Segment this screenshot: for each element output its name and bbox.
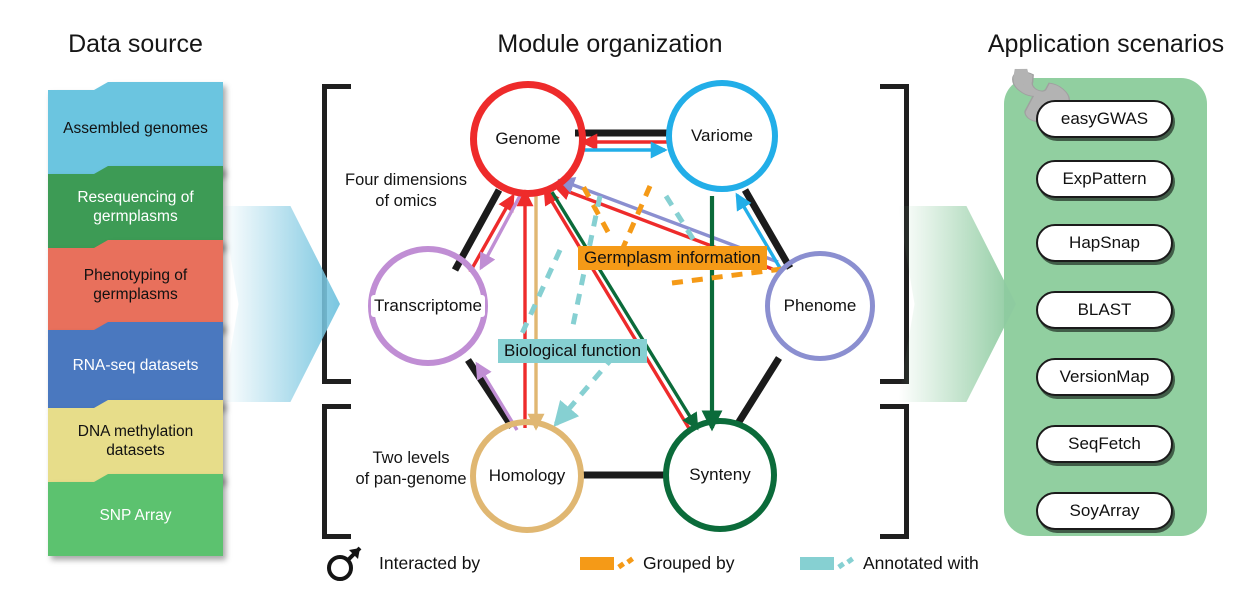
data-source-item: Resequencing of germplasms <box>48 166 223 248</box>
app-button-label: SeqFetch <box>1068 434 1141 454</box>
data-source-item: SNP Array <box>48 474 223 556</box>
node-genome[interactable]: Genome <box>470 81 586 197</box>
data-source-item-label: RNA-seq datasets <box>54 356 217 375</box>
app-button-label: easyGWAS <box>1061 109 1148 129</box>
bracket-pangenome-right <box>880 404 909 539</box>
data-source-item: DNA methylation datasets <box>48 400 223 482</box>
legend-dash-icon <box>618 557 634 570</box>
app-button-exppattern[interactable]: ExpPattern <box>1036 160 1173 198</box>
node-label: Transcriptome <box>371 295 485 317</box>
legend-item: Grouped by <box>580 541 734 585</box>
node-label: Phenome <box>781 295 860 317</box>
group-label-omics: Four dimensions of omics <box>336 170 476 212</box>
data-source-title: Data source <box>48 30 223 59</box>
app-button-label: ExpPattern <box>1062 169 1146 189</box>
app-button-blast[interactable]: BLAST <box>1036 291 1173 329</box>
node-synteny[interactable]: Synteny <box>663 418 777 532</box>
app-button-label: HapSnap <box>1069 233 1140 253</box>
data-source-item-label: Resequencing of germplasms <box>54 188 217 226</box>
group-label-omics-line1: Four dimensions <box>336 170 476 191</box>
data-source-item-label: DNA methylation datasets <box>54 422 217 460</box>
module-organization-title: Module organization <box>440 30 780 59</box>
data-source-item: Phenotyping of germplasms <box>48 240 223 330</box>
node-homology[interactable]: Homology <box>470 419 584 533</box>
app-button-label: SoyArray <box>1070 501 1140 521</box>
app-button-hapsnap[interactable]: HapSnap <box>1036 224 1173 262</box>
legend-label: Grouped by <box>643 553 734 574</box>
app-button-label: VersionMap <box>1060 367 1150 387</box>
node-label: Synteny <box>686 464 753 486</box>
group-label-pangenome-line1: Two levels <box>336 448 486 469</box>
app-button-versionmap[interactable]: VersionMap <box>1036 358 1173 396</box>
legend-label: Interacted by <box>379 553 480 574</box>
node-label: Genome <box>492 128 563 150</box>
data-source-stack: Assembled genomesResequencing of germpla… <box>48 82 223 537</box>
app-button-seqfetch[interactable]: SeqFetch <box>1036 425 1173 463</box>
data-source-item-label: Phenotyping of germplasms <box>54 266 217 304</box>
legend-swatch-icon <box>580 557 614 570</box>
node-phenome[interactable]: Phenome <box>765 251 875 361</box>
edge-label-biological-function: Biological function <box>498 339 647 363</box>
data-source-item: Assembled genomes <box>48 82 223 174</box>
group-label-omics-line2: of omics <box>336 191 476 212</box>
legend-swatch-icon <box>800 557 834 570</box>
mars-arrow-icon <box>325 543 367 583</box>
node-label: Homology <box>486 465 569 487</box>
bracket-omics-left <box>322 84 351 384</box>
legend: Interacted byGrouped byAnnotated with <box>325 541 925 585</box>
legend-item: Annotated with <box>800 541 979 585</box>
node-transcriptome[interactable]: Transcriptome <box>368 246 488 366</box>
data-source-item: RNA-seq datasets <box>48 322 223 408</box>
transition-arrow-right <box>898 206 1016 402</box>
data-source-item-label: Assembled genomes <box>54 119 217 138</box>
app-button-label: BLAST <box>1078 300 1132 320</box>
group-label-pangenome: Two levels of pan-genome <box>336 448 486 490</box>
legend-label: Annotated with <box>863 553 979 574</box>
app-button-easygwas[interactable]: easyGWAS <box>1036 100 1173 138</box>
group-label-pangenome-line2: of pan-genome <box>336 469 486 490</box>
app-button-soyarray[interactable]: SoyArray <box>1036 492 1173 530</box>
node-variome[interactable]: Variome <box>666 80 778 192</box>
legend-item: Interacted by <box>325 541 480 585</box>
edge-label-germplasm-information: Germplasm information <box>578 246 767 270</box>
node-label: Variome <box>688 125 756 147</box>
legend-dash-icon <box>838 557 854 570</box>
data-source-item-label: SNP Array <box>54 506 217 525</box>
application-scenarios-title: Application scenarios <box>975 30 1237 59</box>
